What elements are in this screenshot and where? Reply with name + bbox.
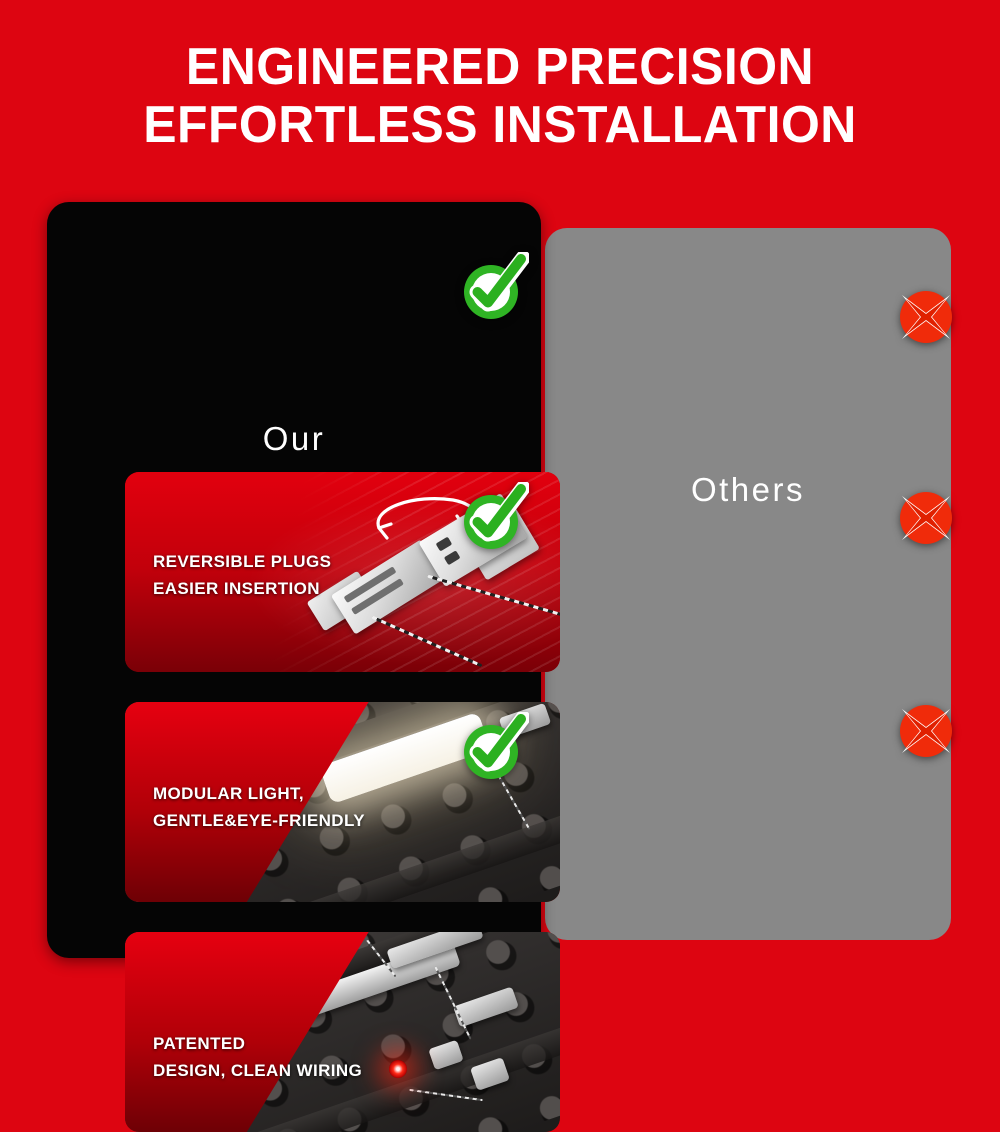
our-card-patented-design: PATENTED DESIGN, CLEAN WIRING: [125, 932, 560, 1132]
red-cross-badge-2: [890, 482, 962, 554]
green-check-badge-1: [457, 252, 529, 324]
red-cross-badge-3: [890, 695, 962, 767]
our-card-3-text: PATENTED DESIGN, CLEAN WIRING: [153, 1030, 362, 1084]
red-cross-badge-1: [890, 281, 962, 353]
our-card-1-line-2: EASIER INSERTION: [153, 575, 331, 602]
our-card-2-line-2: GENTLE&EYE-FRIENDLY: [153, 807, 365, 834]
green-check-badge-3: [457, 712, 529, 784]
red-led-indicator: [389, 1060, 407, 1078]
our-card-1-line-1: REVERSIBLE PLUGS: [153, 548, 331, 575]
our-card-2-line-1: MODULAR LIGHT,: [153, 780, 365, 807]
our-card-3-line-2: DESIGN, CLEAN WIRING: [153, 1057, 362, 1084]
our-card-2-text: MODULAR LIGHT, GENTLE&EYE-FRIENDLY: [153, 780, 365, 834]
our-column-title: Our: [47, 420, 541, 458]
page-headline: ENGINEERED PRECISION EFFORTLESS INSTALLA…: [20, 38, 980, 154]
headline-line-1: ENGINEERED PRECISION: [20, 38, 980, 96]
headline-line-2: EFFORTLESS INSTALLATION: [20, 96, 980, 154]
our-card-1-text: REVERSIBLE PLUGS EASIER INSERTION: [153, 548, 331, 602]
our-card-3-line-1: PATENTED: [153, 1030, 362, 1057]
connector-pin: [436, 537, 453, 552]
green-check-badge-2: [457, 482, 529, 554]
